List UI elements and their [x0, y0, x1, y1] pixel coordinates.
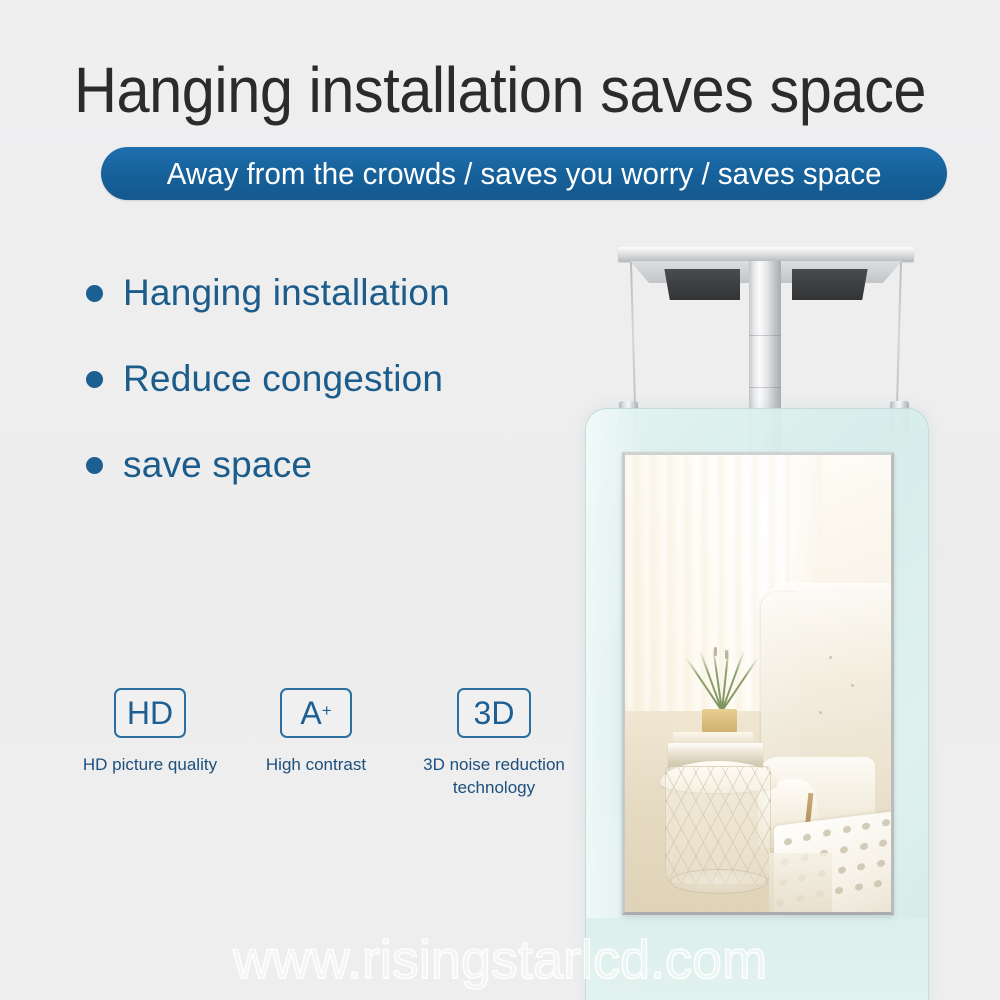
- promo-page: Hanging installation saves space Away fr…: [0, 0, 1000, 1000]
- hd-badge-caption: HD picture quality: [83, 753, 217, 776]
- spec-badge-hd: HD HD picture quality: [76, 688, 224, 776]
- scene-lavender-plant: [689, 647, 753, 711]
- hd-badge-text: HD: [127, 696, 173, 730]
- bullet-dot-icon: [86, 371, 103, 388]
- spec-badge-contrast: A+ High contrast: [246, 688, 386, 776]
- feature-bullet-list: Hanging installation Reduce congestion s…: [86, 264, 556, 522]
- bullet-dot-icon: [86, 285, 103, 302]
- mount-column-seam: [749, 335, 781, 336]
- threed-badge-icon: 3D: [457, 688, 531, 738]
- scene-wire-basket-table: [665, 766, 771, 885]
- lcd-screen: [622, 452, 894, 915]
- hanging-cable-left: [630, 262, 636, 408]
- aplus-badge-superscript: +: [322, 702, 332, 719]
- display-panel-lower: [585, 918, 929, 1000]
- bullet-label: save space: [123, 443, 312, 487]
- scene-plant-pot: [702, 709, 737, 734]
- ceiling-plate: [618, 247, 914, 262]
- spec-badge-3d: 3D 3D noise reduction technology: [408, 688, 580, 799]
- scene-basket-base: [670, 869, 768, 894]
- page-title: Hanging installation saves space: [35, 52, 965, 128]
- hanging-cable-right: [896, 262, 902, 408]
- screen-scene-image: [625, 455, 891, 912]
- threed-badge-text: 3D: [474, 696, 515, 730]
- bullet-dot-icon: [86, 457, 103, 474]
- scene-armchair-tuft: [819, 711, 822, 714]
- spec-badge-row: HD HD picture quality A+ High contrast 3…: [76, 688, 596, 799]
- list-item: save space: [86, 436, 556, 494]
- bracket-block-left: [662, 269, 740, 300]
- scene-stool-skirt: [769, 853, 833, 912]
- aplus-badge-text: A: [300, 696, 321, 730]
- contrast-badge-caption: High contrast: [266, 753, 366, 776]
- mount-column-seam: [749, 387, 781, 388]
- list-item: Reduce congestion: [86, 350, 556, 408]
- scene-armchair-wing: [761, 592, 801, 775]
- tagline-banner: Away from the crowds / saves you worry /…: [101, 147, 947, 200]
- bullet-label: Hanging installation: [123, 271, 450, 315]
- list-item: Hanging installation: [86, 264, 556, 322]
- bullet-label: Reduce congestion: [123, 357, 443, 401]
- aplus-badge-icon: A+: [280, 688, 352, 738]
- scene-armchair-tuft: [851, 684, 854, 687]
- threed-badge-caption: 3D noise reduction technology: [423, 753, 565, 799]
- hd-badge-icon: HD: [114, 688, 186, 738]
- tagline-text: Away from the crowds / saves you worry /…: [167, 157, 882, 191]
- bracket-block-right: [792, 269, 870, 300]
